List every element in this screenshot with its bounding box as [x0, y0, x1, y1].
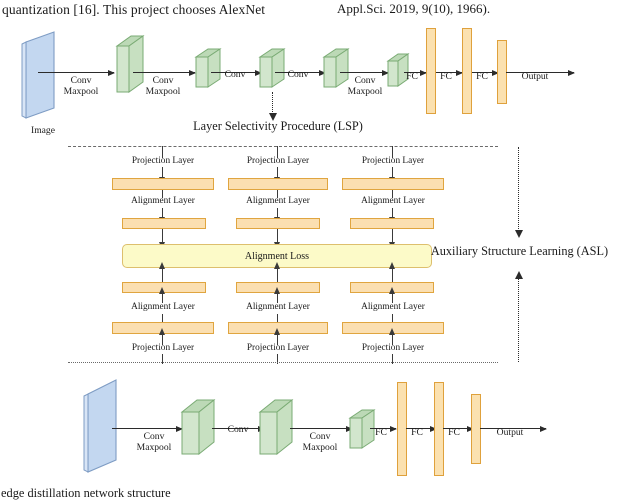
figure-page: quantization [16]. This project chooses … — [0, 0, 640, 502]
asl-alignment-label-bot-3: Alignment Layer — [350, 302, 436, 313]
asl-projection-label-top-2: Projection Layer — [235, 156, 321, 167]
asl-arrow-top-loss-3 — [392, 229, 393, 243]
teacher-edge-4-label: Conv — [278, 70, 318, 81]
asl-alignment-bar-top-3 — [350, 218, 434, 229]
teacher-conv-block-3 — [258, 47, 286, 89]
alignment-loss-label: Alignment Loss — [245, 251, 309, 262]
teacher-image-slab — [20, 30, 62, 120]
asl-arrow-top-align-3 — [392, 208, 393, 218]
teacher-edge-1-label: Conv Maxpool — [58, 76, 104, 97]
student-edge-5-label: FC — [405, 428, 429, 439]
asl-bot-line-b1 — [162, 314, 163, 322]
asl-alignment-label-top-3: Alignment Layer — [350, 196, 436, 207]
asl-bot-line-b2 — [277, 314, 278, 322]
asl-alignment-label-bot-2: Alignment Layer — [235, 302, 321, 313]
teacher-edge-2-label: Conv Maxpool — [139, 76, 187, 97]
asl-arrow-bot-loss-2 — [277, 268, 278, 282]
asl-bottom-separator — [68, 362, 498, 363]
asl-bot-line-b3 — [392, 314, 393, 322]
header-left-text: quantization [16]. This project chooses … — [2, 2, 265, 18]
teacher-edge-8-label: FC — [470, 72, 494, 83]
student-edge-4-label: FC — [369, 428, 393, 439]
header-right-citation: Appl.Sci. 2019, 9(10), 1966). — [337, 1, 490, 17]
asl-alignment-bar-top-1 — [122, 218, 206, 229]
student-image-slab — [82, 378, 124, 474]
asl-arrow-top-loss-2 — [277, 229, 278, 243]
asl-projection-label-top-1: Projection Layer — [120, 156, 206, 167]
teacher-fc-bar-2 — [462, 28, 472, 114]
student-conv-block-2 — [258, 398, 294, 460]
student-edge-1-label: Conv Maxpool — [130, 432, 178, 453]
teacher-arrow-1 — [38, 72, 114, 73]
asl-projection-label-top-3: Projection Layer — [350, 156, 436, 167]
lsp-dotted-arrow — [272, 92, 273, 114]
asl-dotted-arrow-down — [518, 147, 519, 231]
student-edge-2-label: Conv — [218, 425, 258, 436]
asl-dotted-arrow-up — [518, 278, 519, 362]
asl-arrow-top-proj-2 — [277, 167, 278, 178]
asl-alignment-bar-top-2 — [236, 218, 320, 229]
student-arrow-3 — [290, 428, 352, 429]
student-conv-block-1 — [180, 398, 216, 460]
lsp-label: Layer Selectivity Procedure (LSP) — [178, 119, 378, 134]
asl-label: Auxiliary Structure Learning (ASL) — [417, 244, 622, 259]
asl-arrow-top-align-1 — [162, 208, 163, 218]
student-output-label: Output — [487, 428, 533, 439]
student-edge-3-label: Conv Maxpool — [296, 432, 344, 453]
teacher-edge-7-label: FC — [434, 72, 458, 83]
asl-projection-label-bot-2: Projection Layer — [235, 343, 321, 354]
figure-caption: edge distillation network structure — [1, 486, 171, 501]
teacher-conv-block-5 — [386, 52, 410, 88]
asl-alignment-label-bot-1: Alignment Layer — [120, 302, 206, 313]
student-arrow-1 — [112, 428, 182, 429]
asl-projection-label-bot-1: Projection Layer — [120, 343, 206, 354]
asl-arrow-top-loss-1 — [162, 229, 163, 243]
teacher-image-label: Image — [18, 126, 68, 137]
teacher-output-label: Output — [512, 72, 558, 83]
teacher-fc-bar-1 — [426, 28, 436, 114]
asl-projection-bar-top-3 — [342, 178, 444, 190]
asl-arrow-bot-loss-1 — [162, 268, 163, 282]
teacher-edge-3-label: Conv — [215, 70, 255, 81]
asl-top-separator — [68, 146, 498, 147]
student-fc-bar-3 — [471, 394, 481, 464]
teacher-conv-block-2 — [194, 47, 222, 89]
asl-alignment-label-top-1: Alignment Layer — [120, 196, 206, 207]
asl-arrow-top-align-2 — [277, 208, 278, 218]
asl-arrow-bot-loss-3 — [392, 268, 393, 282]
teacher-arrow-2 — [133, 72, 195, 73]
teacher-edge-5-label: Conv Maxpool — [341, 76, 389, 97]
asl-projection-bar-top-2 — [228, 178, 328, 190]
asl-projection-bar-top-1 — [112, 178, 214, 190]
asl-arrow-top-proj-3 — [392, 167, 393, 178]
teacher-edge-6-label: FC — [400, 72, 424, 83]
teacher-arrow-5 — [340, 72, 388, 73]
asl-alignment-label-top-2: Alignment Layer — [235, 196, 321, 207]
asl-projection-label-bot-3: Projection Layer — [350, 343, 436, 354]
student-edge-6-label: FC — [442, 428, 466, 439]
asl-arrow-top-proj-1 — [162, 167, 163, 178]
